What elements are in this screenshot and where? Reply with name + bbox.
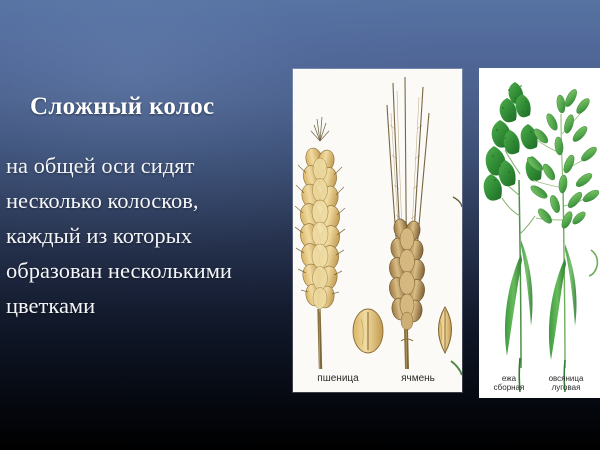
body-line-4: образован несколькими xyxy=(6,253,298,288)
body-line-3: каждый из которых xyxy=(6,218,298,253)
cereal-spikes-panel: пшеница ячмень xyxy=(293,69,462,392)
caption-fescue-line2: луговая xyxy=(537,383,595,392)
caption-cocksfoot-line1: ежа xyxy=(483,374,535,383)
body-line-2: несколько колосков, xyxy=(6,183,298,218)
wheat-grain-drawing xyxy=(353,309,383,353)
caption-wheat: пшеница xyxy=(301,373,375,385)
caption-cocksfoot: ежа сборная xyxy=(483,374,535,392)
meadow-grasses-artwork xyxy=(479,68,600,398)
caption-fescue-line1: овсяница xyxy=(537,374,595,383)
body-line-5: цветками xyxy=(6,288,298,323)
text-column: Сложный колос на общей оси сидят несколь… xyxy=(0,0,295,450)
slide: Сложный колос на общей оси сидят несколь… xyxy=(0,0,600,450)
caption-cocksfoot-line2: сборная xyxy=(483,383,535,392)
cereal-spikes-artwork xyxy=(293,69,462,392)
body-line-1: на общей оси сидят xyxy=(6,148,298,183)
caption-fescue: овсяница луговая xyxy=(537,374,595,392)
meadow-grasses-panel: ежа сборная овсяница луговая xyxy=(479,68,600,398)
body-text: на общей оси сидят несколько колосков, к… xyxy=(6,148,298,323)
caption-barley: ячмень xyxy=(381,373,455,385)
page-title: Сложный колос xyxy=(30,93,290,121)
